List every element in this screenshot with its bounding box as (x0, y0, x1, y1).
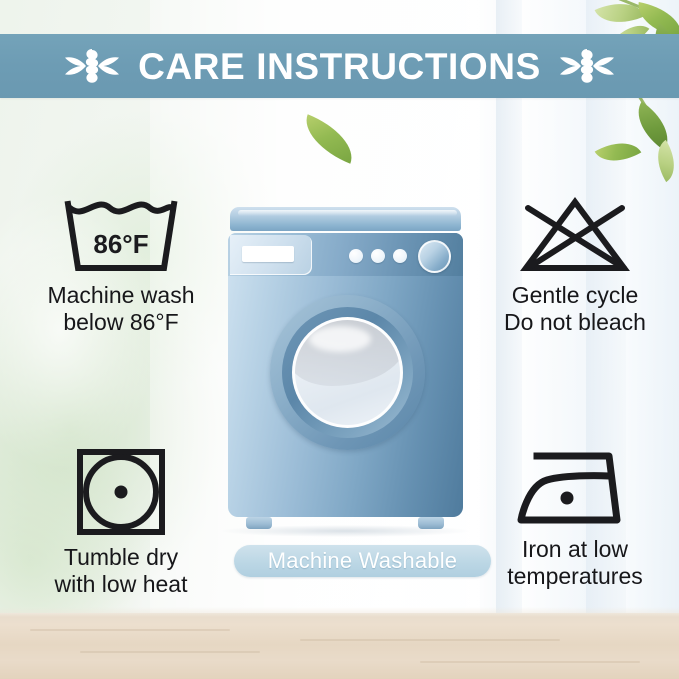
header-banner: CARE INSTRUCTIONS (0, 34, 679, 98)
control-button-2 (371, 249, 385, 263)
care-symbol-caption-do-not-bleach: Gentle cycle Do not bleach (504, 282, 646, 336)
fleur-de-lis-icon-right (559, 46, 615, 86)
care-symbol-caption-machine-wash: Machine wash below 86°F (47, 282, 194, 336)
machine-body (228, 233, 463, 517)
washer-door-glass (292, 317, 403, 428)
control-button-1 (349, 249, 363, 263)
page-title: CARE INSTRUCTIONS (138, 48, 541, 85)
iron-icon (513, 446, 637, 530)
machine-top-lid (230, 207, 461, 231)
dial-knob (418, 240, 451, 273)
care-symbol-machine-wash: 86°F Machine wash below 86°F (10, 196, 232, 336)
wash-tub-icon: 86°F (62, 196, 180, 276)
machine-washable-badge: Machine Washable (234, 545, 491, 577)
care-symbol-tumble-dry: Tumble dry with low heat (10, 446, 232, 598)
fleur-de-lis-icon-left (64, 46, 120, 86)
machine-foot-left (246, 517, 272, 529)
control-button-3 (393, 249, 407, 263)
detergent-drawer (230, 235, 312, 275)
care-instructions-infographic: CARE INSTRUCTIONS 86°F Machine wash belo… (0, 0, 679, 679)
care-symbol-iron: Iron at low temperatures (472, 446, 678, 590)
wash-temperature-label: 86°F (62, 196, 180, 276)
wooden-table-surface (0, 613, 679, 679)
care-symbol-caption-tumble-dry: Tumble dry with low heat (55, 544, 188, 598)
care-symbol-caption-iron: Iron at low temperatures (507, 536, 643, 590)
machine-washable-badge-label: Machine Washable (268, 548, 457, 574)
tumble-dry-icon (71, 446, 171, 538)
care-symbol-do-not-bleach: Gentle cycle Do not bleach (472, 196, 678, 336)
machine-control-panel (228, 233, 463, 276)
washing-machine-illustration (228, 207, 463, 537)
triangle-crossed-icon (516, 196, 634, 276)
machine-foot-right (418, 517, 444, 529)
